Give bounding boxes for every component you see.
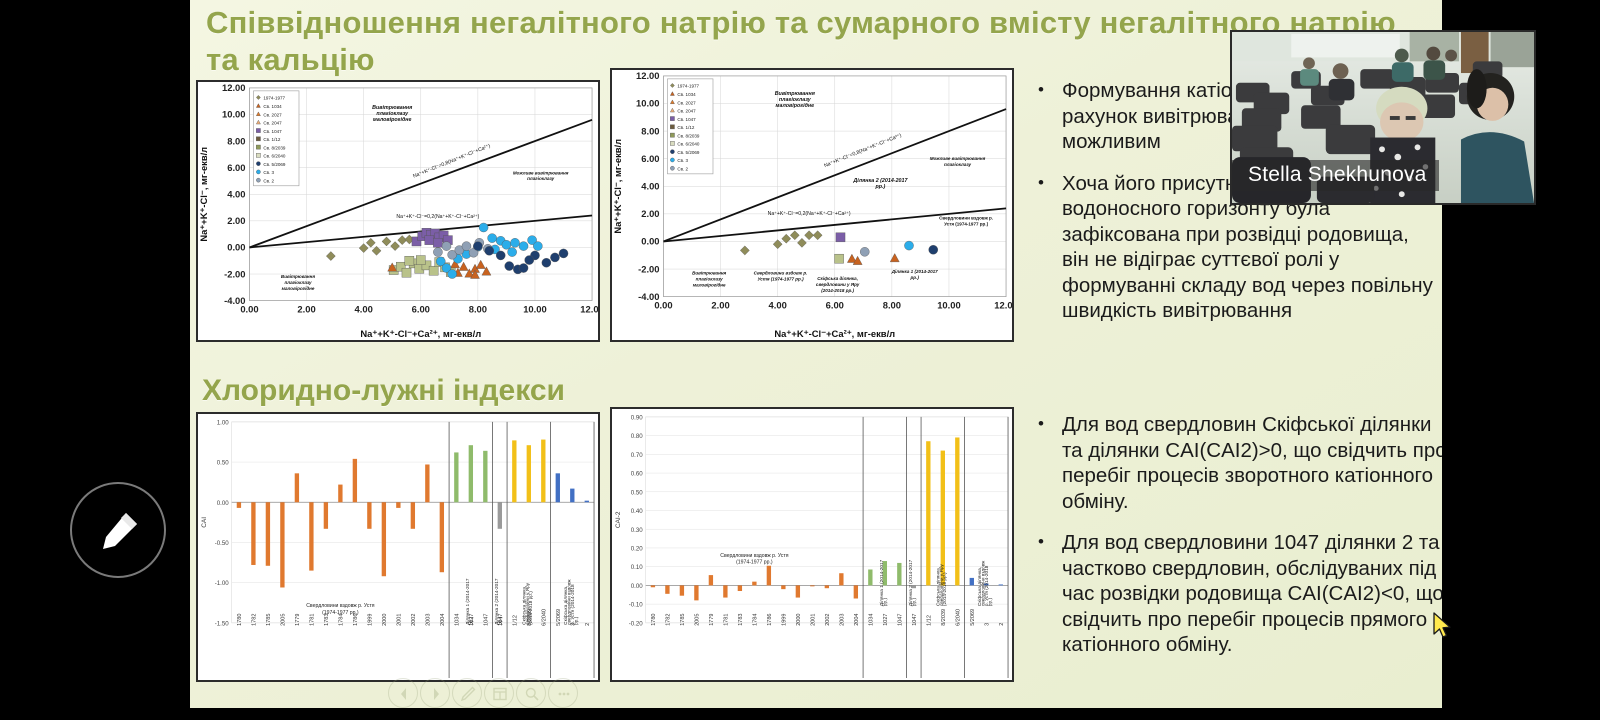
chart-text: 0.90 bbox=[631, 414, 644, 421]
chart-text: -1.50 bbox=[215, 620, 230, 627]
bar-cai2: 0.900.800.700.600.500.400.300.200.100.00… bbox=[612, 409, 1012, 680]
data-point bbox=[433, 248, 442, 257]
chart-text: 4.00 bbox=[769, 300, 787, 310]
chart-text: 1027 bbox=[883, 614, 889, 626]
chart-text: -4.00 bbox=[638, 292, 659, 302]
chart-text: маловірогідне bbox=[776, 103, 815, 109]
bar bbox=[353, 459, 357, 502]
chart-text: 1784 bbox=[753, 614, 759, 626]
chart-text: 2000 bbox=[796, 614, 802, 626]
chart-text: 2 bbox=[999, 623, 1005, 626]
chart-text: (2014-2018 рр.) bbox=[821, 288, 854, 293]
bar bbox=[767, 566, 771, 586]
chart-text: 10.00 bbox=[636, 99, 660, 109]
bar bbox=[723, 585, 727, 597]
bar bbox=[440, 502, 444, 572]
chart-text: 0.00 bbox=[240, 304, 258, 314]
bar bbox=[280, 502, 284, 587]
chart-text: Вивітрювання bbox=[692, 271, 727, 276]
magnifier-icon bbox=[523, 685, 541, 703]
chart-text: 6.00 bbox=[412, 304, 430, 314]
chart-text: 0.50 bbox=[631, 489, 644, 496]
chart-text: 3 bbox=[984, 623, 990, 626]
data-point bbox=[256, 178, 260, 182]
bar bbox=[309, 502, 313, 570]
list-item: Для вод свердловини 1047 ділянки 2 та ча… bbox=[1028, 530, 1442, 658]
bar-cai: 1.000.500.00-0.50-1.00-1.50CAI1780178217… bbox=[198, 414, 598, 680]
chart-text: Св. 3 bbox=[263, 170, 274, 175]
chart-text: -0.20 bbox=[629, 620, 644, 627]
data-point bbox=[670, 150, 674, 154]
chart-text: рр.) bbox=[875, 184, 886, 190]
data-point bbox=[429, 266, 438, 275]
data-point bbox=[508, 248, 517, 257]
chart-text: Устя (1974-1977 рр.) bbox=[944, 221, 989, 226]
chart-text: 2.00 bbox=[641, 209, 659, 219]
data-point bbox=[929, 245, 938, 254]
scatter2: 0.002.004.006.008.0010.0012.00-4.00-2.00… bbox=[612, 70, 1012, 340]
data-point bbox=[462, 242, 471, 251]
chart-text: 1785 bbox=[266, 614, 272, 626]
data-point bbox=[402, 268, 411, 277]
chart-text: 1785 bbox=[680, 614, 686, 626]
chart-text: Св. 5/2069 bbox=[677, 150, 700, 155]
bar bbox=[796, 585, 800, 597]
pencil-icon bbox=[95, 507, 143, 555]
data-point bbox=[542, 258, 551, 267]
chart-text: Na⁺+K⁺-Cl⁻=0,2(Na⁺+K⁺-Cl⁻+Ca²⁺) bbox=[396, 214, 479, 220]
bar bbox=[324, 502, 328, 529]
chart-text: 8.00 bbox=[641, 126, 659, 136]
chart-text: 8/2039 bbox=[941, 609, 947, 626]
video-participant-tile[interactable]: Stella Shekhunova bbox=[1230, 30, 1536, 205]
chart-text: Свердловини вздовж р. bbox=[754, 271, 808, 276]
chart-text: 1786 bbox=[767, 614, 773, 626]
series-Св. 5/2069 bbox=[929, 245, 938, 254]
layout-icon bbox=[491, 685, 509, 703]
bar bbox=[541, 440, 545, 503]
bar bbox=[926, 441, 930, 585]
data-point bbox=[416, 256, 425, 265]
bar bbox=[556, 473, 560, 502]
chart-text: Na⁺+K⁺-Cl⁻=0,2(Na⁺+K⁺-Cl⁻+Ca²⁺) bbox=[768, 211, 851, 217]
chart-text: 0.00 bbox=[654, 300, 672, 310]
chart-text: 1782 bbox=[666, 614, 672, 626]
chart-text: Вивітрювання bbox=[281, 274, 316, 279]
chart-text: 1034 bbox=[869, 614, 875, 626]
chart-text: 1781 bbox=[724, 614, 730, 626]
chart-text: 0.00 bbox=[631, 583, 644, 590]
chart-text: 1/12 bbox=[926, 615, 932, 626]
chart-text: Св. 1034 bbox=[677, 92, 696, 97]
bar bbox=[338, 485, 342, 503]
chart-text: Св. 8/2039 bbox=[263, 145, 286, 150]
chart-text: рр.) bbox=[883, 598, 889, 607]
chart-text: Св. 2 bbox=[677, 167, 688, 172]
bar bbox=[752, 582, 756, 586]
data-point bbox=[256, 162, 260, 166]
chart-text: 8.00 bbox=[227, 136, 245, 146]
chart-text: 4.00 bbox=[227, 190, 245, 200]
scatter1: 0.002.004.006.008.0010.0012.00-4.00-2.00… bbox=[198, 82, 598, 340]
zoom-button[interactable] bbox=[516, 678, 546, 708]
data-point bbox=[559, 249, 568, 258]
chart-text: плагіоклазу bbox=[944, 162, 972, 167]
chart-text: 2001 bbox=[397, 614, 403, 626]
chart-text: 1.00 bbox=[217, 419, 230, 426]
chart-text: 0.20 bbox=[631, 546, 644, 553]
series-Св. 3 bbox=[904, 241, 913, 250]
chart-text: 2.00 bbox=[711, 300, 729, 310]
list-item: Для вод свердловин Скіфської ділянки та … bbox=[1028, 412, 1442, 514]
data-point bbox=[488, 234, 497, 243]
bar bbox=[512, 440, 516, 502]
data-point bbox=[505, 262, 514, 271]
chart-text: 1779 bbox=[295, 614, 301, 626]
chart-text: 2005 bbox=[695, 614, 701, 626]
chart-text: 1974-1977 bbox=[677, 84, 699, 89]
data-point bbox=[904, 241, 913, 250]
chart-text: 12.00 bbox=[636, 71, 660, 81]
chart-text: -4.00 bbox=[224, 296, 245, 306]
chart-text: 2003 bbox=[426, 614, 432, 626]
chart-text: 6.00 bbox=[826, 300, 844, 310]
chart-text: 2002 bbox=[825, 614, 831, 626]
bar bbox=[854, 585, 858, 598]
chart-text: -2.00 bbox=[224, 269, 245, 279]
chart-text: Устя (1974-1977 рр.) bbox=[757, 276, 804, 281]
data-point bbox=[670, 117, 674, 121]
bar bbox=[367, 502, 371, 529]
chart-text: 2004 bbox=[440, 614, 446, 626]
data-point bbox=[473, 242, 482, 251]
chart-text: Можливе вивітрювання bbox=[930, 156, 986, 161]
data-point bbox=[860, 247, 869, 256]
chart-text: 0.00 bbox=[217, 500, 230, 507]
chart-text: Na⁺+K⁺-Cl⁻, мг-екв/л bbox=[199, 147, 209, 242]
series-Св. 2 bbox=[860, 247, 869, 256]
bar bbox=[955, 437, 959, 585]
chart-text: 4.00 bbox=[641, 182, 659, 192]
chart-text: 0.10 bbox=[631, 564, 644, 571]
chart-text: 2003 bbox=[840, 614, 846, 626]
data-point bbox=[533, 242, 542, 251]
bar bbox=[680, 585, 684, 595]
chart-text: 6.00 bbox=[641, 154, 659, 164]
chart-text: рр.) bbox=[910, 275, 920, 280]
chart-text: 8.00 bbox=[469, 304, 487, 314]
chart-text: 2001 bbox=[811, 614, 817, 626]
chart-text: 10.00 bbox=[222, 110, 246, 120]
data-point bbox=[448, 269, 457, 278]
data-point bbox=[485, 246, 494, 255]
chart-text: 1783 bbox=[738, 614, 744, 626]
chart-text: Св. 2027 bbox=[263, 112, 282, 117]
bar bbox=[266, 502, 270, 566]
bar bbox=[585, 501, 589, 503]
section-title: Хлоридно-лужні індекси bbox=[202, 374, 802, 408]
data-point bbox=[425, 236, 434, 245]
chart-text: плагіоклазу bbox=[527, 176, 555, 181]
chart-text: маловірогідне bbox=[373, 117, 412, 123]
chart-text: Св. 5/2069 bbox=[263, 162, 286, 167]
chart-text: -1.00 bbox=[215, 580, 230, 587]
chart-text: -0.50 bbox=[215, 540, 230, 547]
chart-text: Свердловини вздовж р. Устя bbox=[306, 603, 374, 609]
chart-text: 0.30 bbox=[631, 527, 644, 534]
bar bbox=[295, 473, 299, 502]
chart-text: Св. 1/12 bbox=[263, 137, 281, 142]
participant-name-label: Stella Shekhunova bbox=[1232, 160, 1439, 191]
chart-text: рр.) bbox=[497, 616, 503, 625]
chart-text: 1999 bbox=[782, 614, 788, 626]
bar bbox=[665, 585, 669, 593]
bar bbox=[411, 502, 415, 529]
bar bbox=[694, 585, 698, 600]
chart-text: Св. 2 bbox=[263, 178, 274, 183]
chart-text: Св. 1047 bbox=[677, 117, 696, 122]
chart-text: рр.) bbox=[911, 598, 917, 607]
chevron-right-icon bbox=[427, 685, 445, 703]
chart-text: плагіоклазу bbox=[696, 276, 724, 281]
chart-text: Св. 1/12 bbox=[677, 125, 695, 130]
bar bbox=[709, 575, 713, 585]
chart-text: Св. 2047 bbox=[263, 121, 282, 126]
chart-text: 2000 bbox=[382, 614, 388, 626]
chart-text: 0.80 bbox=[631, 433, 644, 440]
scatter-chart-plagioclase-1: 0.002.004.006.008.0010.0012.00-4.00-2.00… bbox=[196, 80, 600, 342]
chart-text: 2.00 bbox=[297, 304, 315, 314]
chart-text: Свердловини вздовж р. bbox=[939, 215, 993, 220]
chart-text: 2005 bbox=[281, 614, 287, 626]
chart-text: рр.) bbox=[573, 616, 579, 625]
bar bbox=[570, 489, 574, 503]
bar-chart-cai2: 0.900.800.700.600.500.400.300.200.100.00… bbox=[610, 407, 1014, 682]
data-point bbox=[256, 128, 260, 132]
chart-text: 1779 bbox=[709, 614, 715, 626]
chart-text: Св. 6/2040 bbox=[677, 142, 700, 147]
chart-text: Св. 3 bbox=[677, 158, 688, 163]
layout-button[interactable] bbox=[484, 678, 514, 708]
chart-text: Na⁺+K⁺-Cl⁻+Ca²⁺, мг-екв/л bbox=[774, 329, 895, 339]
chart-text: 2.00 bbox=[227, 216, 245, 226]
chart-text: 1/12 bbox=[512, 615, 518, 626]
chart-text: маловірогідне bbox=[282, 286, 315, 291]
data-point bbox=[510, 238, 519, 247]
data-point bbox=[670, 166, 674, 170]
series-Ділянка 2 bbox=[836, 233, 845, 242]
chart-text: 0.50 bbox=[217, 460, 230, 467]
next-slide-button[interactable] bbox=[420, 678, 450, 708]
data-point bbox=[496, 251, 505, 260]
bar bbox=[781, 585, 785, 589]
chart-text: 1780 bbox=[237, 614, 243, 626]
bar bbox=[425, 464, 429, 502]
chart-text: (2014-2018 рр.) bbox=[528, 591, 534, 625]
chart-text: 2 bbox=[585, 623, 591, 626]
data-point bbox=[256, 170, 260, 174]
chart-text: 10.00 bbox=[937, 300, 961, 310]
bar bbox=[382, 502, 386, 576]
bar bbox=[251, 502, 255, 565]
bar bbox=[483, 451, 487, 502]
more-options-button[interactable] bbox=[548, 678, 578, 708]
chart-text: 2004 bbox=[854, 614, 860, 626]
data-point bbox=[519, 264, 528, 273]
screen: Співвідношення негалітного натрію та сум… bbox=[0, 0, 1600, 720]
chart-text: 1974-1977 bbox=[263, 96, 285, 101]
bar bbox=[651, 585, 655, 587]
bar bbox=[825, 585, 829, 588]
chart-text: 4.00 bbox=[355, 304, 373, 314]
chart-text: 6/2040 bbox=[541, 609, 547, 626]
bar bbox=[868, 569, 872, 585]
chart-text: Св. 6/2040 bbox=[263, 154, 286, 159]
chart-text: 12.00 bbox=[994, 300, 1012, 310]
bullet-list-bottom: Для вод свердловин Скіфської ділянки та … bbox=[1028, 412, 1442, 674]
bar bbox=[897, 563, 901, 585]
chart-text: Na⁺+K⁺-Cl⁻, мг-екв/л bbox=[613, 139, 623, 234]
data-point bbox=[519, 242, 528, 251]
ellipsis-icon bbox=[555, 685, 573, 703]
chart-text: CAI-2 bbox=[615, 511, 622, 528]
data-point bbox=[670, 141, 674, 145]
chart-text: 5/2069 bbox=[556, 609, 562, 626]
data-point bbox=[256, 137, 260, 141]
data-point bbox=[502, 240, 511, 249]
chart-text: Св. 2047 bbox=[677, 109, 696, 114]
chart-text: 0.70 bbox=[631, 452, 644, 459]
pen-icon bbox=[459, 685, 477, 703]
data-point bbox=[525, 256, 534, 265]
chart-text: 0.00 bbox=[641, 237, 659, 247]
chart-text: 1034 bbox=[455, 614, 461, 626]
prev-slide-button[interactable] bbox=[388, 678, 418, 708]
bar bbox=[527, 445, 531, 502]
chart-text: 0.40 bbox=[631, 508, 644, 515]
bar bbox=[498, 502, 502, 529]
chart-text: Св. 8/2039 bbox=[677, 133, 700, 138]
data-point bbox=[835, 254, 844, 263]
bar bbox=[810, 585, 814, 586]
slide-toolbar bbox=[388, 678, 573, 708]
data-point bbox=[670, 158, 674, 162]
bar bbox=[237, 502, 241, 508]
chart-text: Св. 1034 bbox=[263, 104, 282, 109]
chart-text: 1781 bbox=[310, 614, 316, 626]
chart-text: 2002 bbox=[411, 614, 417, 626]
chart-text: 0.00 bbox=[227, 243, 245, 253]
chart-text: (1974-1977 рр.) bbox=[736, 560, 773, 566]
data-point bbox=[442, 242, 451, 251]
chart-text: плагіоклазу bbox=[284, 280, 312, 285]
chart-text: 5/2069 bbox=[970, 609, 976, 626]
chart-text: 1780 bbox=[651, 614, 657, 626]
data-point bbox=[550, 253, 559, 262]
chart-text: 0.60 bbox=[631, 471, 644, 478]
chart-text: 1047 bbox=[483, 614, 489, 626]
chart-text: (1974-1977 рр.) bbox=[322, 610, 359, 616]
data-point bbox=[405, 256, 414, 265]
data-point bbox=[256, 153, 260, 157]
series-Скіфська ділянка bbox=[835, 254, 844, 263]
chart-text: рр.) bbox=[469, 616, 475, 625]
chart-text: Можливе вивітрювання bbox=[513, 170, 569, 175]
chart-text: CAI bbox=[201, 517, 208, 528]
bar bbox=[454, 452, 458, 502]
chart-text: -2.00 bbox=[638, 264, 659, 274]
chart-text: 1047 bbox=[912, 614, 918, 626]
chart-text: рр.) bbox=[987, 598, 993, 607]
bar bbox=[839, 573, 843, 585]
data-point bbox=[256, 145, 260, 149]
chart-text: 8.00 bbox=[883, 300, 901, 310]
chart-text: 6/2040 bbox=[955, 609, 961, 626]
chart-text: Св. 1047 bbox=[263, 129, 282, 134]
chart-text: маловірогідне bbox=[693, 282, 726, 287]
bar bbox=[970, 578, 974, 585]
chart-text: Na⁺+K⁺-Cl⁻+Ca²⁺, мг-екв/л bbox=[360, 329, 481, 339]
chart-text: 1999 bbox=[368, 614, 374, 626]
chart-text: Ділянка 1 (2014-2017 bbox=[891, 269, 938, 274]
chart-text: (2014-2018 рр.) bbox=[942, 572, 948, 606]
mouse-cursor bbox=[1432, 612, 1452, 640]
scatter-chart-plagioclase-2: 0.002.004.006.008.0010.0012.00-4.00-2.00… bbox=[610, 68, 1014, 342]
data-point bbox=[670, 133, 674, 137]
chart-text: 1782 bbox=[252, 614, 258, 626]
edit-pencil-button[interactable] bbox=[70, 482, 166, 578]
chart-text: Скіфська ділянка, bbox=[817, 275, 858, 281]
annotate-button[interactable] bbox=[452, 678, 482, 708]
bar bbox=[396, 502, 400, 508]
bar bbox=[738, 585, 742, 591]
bar-chart-cai: 1.000.500.00-0.50-1.00-1.50CAI1780178217… bbox=[196, 412, 600, 682]
chart-text: свердловини у Яру bbox=[816, 282, 860, 287]
chart-text: 10.00 bbox=[523, 304, 547, 314]
chart-text: -0.10 bbox=[629, 602, 644, 609]
chart-text: Свердловини вздовж р. Устя bbox=[720, 553, 788, 559]
chart-text: 12.00 bbox=[580, 304, 598, 314]
data-point bbox=[479, 223, 488, 232]
chevron-left-icon bbox=[395, 685, 413, 703]
bar bbox=[999, 584, 1003, 585]
chart-text: 6.00 bbox=[227, 163, 245, 173]
chart-text: Св. 2027 bbox=[677, 100, 696, 105]
chart-text: 1047 bbox=[897, 614, 903, 626]
chart-text: 12.00 bbox=[222, 83, 246, 93]
bar bbox=[469, 445, 473, 502]
data-point bbox=[670, 125, 674, 129]
data-point bbox=[433, 238, 442, 247]
data-point bbox=[836, 233, 845, 242]
